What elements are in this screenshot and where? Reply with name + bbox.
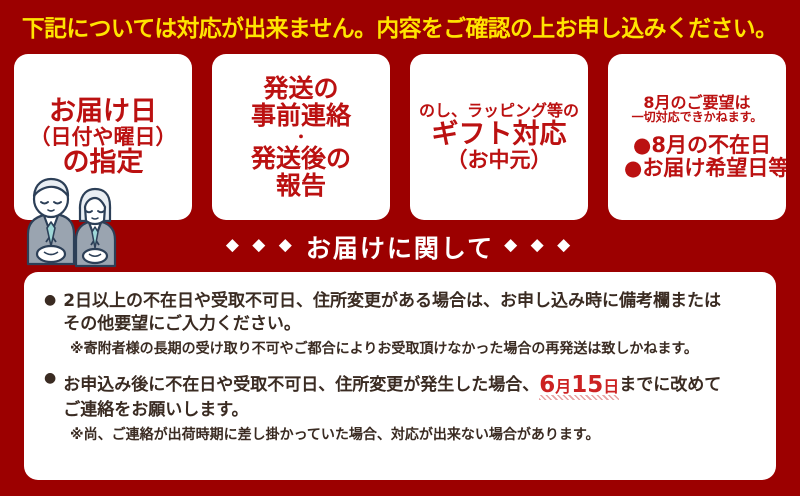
deadline-month-unit: 月 <box>555 377 571 396</box>
restriction-cards-row: お届け日 （日付や曜日） の指定 発送の 事前連絡 ・ 発送後の 報告 のし、ラ… <box>0 54 800 222</box>
diamond-decoration-right-icon: ◆ ◆ ◆ <box>494 235 584 255</box>
card-line: （日付や曜日） <box>30 126 177 149</box>
bullet-dot-icon: ● <box>44 290 63 312</box>
section-title: お届けに関して <box>306 229 494 265</box>
two-people-bowing-icon <box>16 172 120 276</box>
note-line-prefix: お申込み後に不在日や受取不可日、住所変更が発生した場合、 <box>63 375 539 395</box>
card-line: ギフト対応 <box>432 120 567 149</box>
card-line: 一切対応できかねます。 <box>632 111 763 124</box>
card-line: 報告 <box>276 172 326 199</box>
card-line: お届け日 <box>49 97 157 126</box>
note-line: 2日以上の不在日や受取不可日、住所変更がある場合は、お申し込み時に備考欄または <box>63 290 756 313</box>
note-bullet-body: お申込み後に不在日や受取不可日、住所変更が発生した場合、6月15日までに改めて … <box>63 368 756 422</box>
delivery-notes-panel: ● 2日以上の不在日や受取不可日、住所変更がある場合は、お申し込み時に備考欄また… <box>24 272 776 480</box>
deadline-day-unit: 日 <box>603 377 619 396</box>
card-line: のし、ラッピング等の <box>419 102 579 119</box>
card-line: 8月のご要望は <box>643 94 750 111</box>
note-line: その他要望にご入力ください。 <box>63 313 756 336</box>
card-line-separator: ・ <box>293 129 308 145</box>
bullet-dot-icon: ● <box>44 368 63 390</box>
card-bullet-line: ●8月の不在日 <box>614 134 780 157</box>
note-subtext: ※寄附者様の長期の受け取り不可やご都合によりお受取頂けなかった場合の再発送は致し… <box>44 340 756 358</box>
card-bullet-line: ●お届け希望日等 <box>614 157 780 180</box>
card-line: 発送後の <box>251 145 351 172</box>
note-line-suffix: までに改めて <box>619 375 721 395</box>
note-line: ご連絡をお願いします。 <box>63 399 756 422</box>
note-bullet-row: ● お申込み後に不在日や受取不可日、住所変更が発生した場合、6月15日までに改め… <box>44 368 756 422</box>
deadline-day-number: 15 <box>571 372 603 398</box>
note-bullet-row: ● 2日以上の不在日や受取不可日、住所変更がある場合は、お申し込み時に備考欄また… <box>44 290 756 336</box>
diamond-decoration-left-icon: ◆ ◆ ◆ <box>216 235 306 255</box>
section-title-band: ◆ ◆ ◆ お届けに関して ◆ ◆ ◆ <box>0 224 800 270</box>
header-title: 下記については対応が出来ません。内容をご確認の上お申し込みください。 <box>22 9 778 43</box>
note-line-with-deadline: お申込み後に不在日や受取不可日、住所変更が発生した場合、6月15日までに改めて <box>63 368 756 399</box>
note-bullet-body: 2日以上の不在日や受取不可日、住所変更がある場合は、お申し込み時に備考欄または … <box>63 290 756 336</box>
card-line: （お中元） <box>447 149 552 172</box>
deadline-month-number: 6 <box>539 372 555 398</box>
header-banner: 下記については対応が出来ません。内容をご確認の上お申し込みください。 <box>0 0 800 52</box>
note-block-1: ● 2日以上の不在日や受取不可日、住所変更がある場合は、お申し込み時に備考欄また… <box>44 290 756 358</box>
note-subtext: ※尚、ご連絡が出荷時期に差し掛かっていた場合、対応が出来ない場合があります。 <box>44 426 756 444</box>
card-line: 事前連絡 <box>251 102 351 129</box>
card-gift-wrapping: のし、ラッピング等の ギフト対応 （お中元） <box>410 54 588 220</box>
card-august-requests: 8月のご要望は 一切対応できかねます。 ●8月の不在日 ●お届け希望日等 <box>608 54 786 220</box>
note-block-2: ● お申込み後に不在日や受取不可日、住所変更が発生した場合、6月15日までに改め… <box>44 368 756 444</box>
card-shipping-notification: 発送の 事前連絡 ・ 発送後の 報告 <box>212 54 390 220</box>
deadline-date-highlight: 6月15日 <box>539 372 619 400</box>
card-line: 発送の <box>263 75 338 102</box>
